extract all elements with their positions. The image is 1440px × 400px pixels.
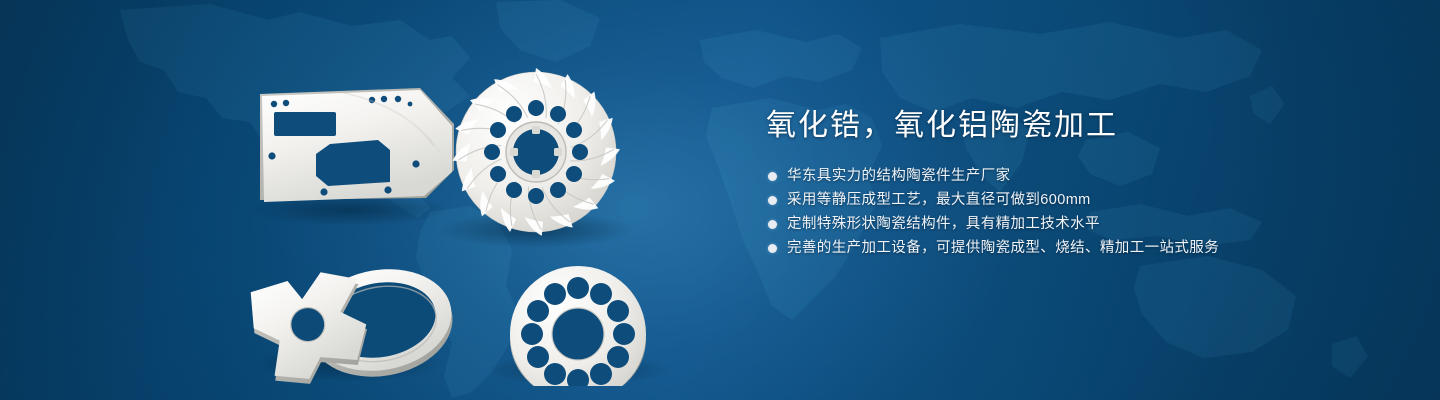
list-item: 完善的生产加工设备，可提供陶瓷成型、烧结、精加工一站式服务 bbox=[768, 238, 1386, 259]
page-title: 氧化锆，氧化铝陶瓷加工 bbox=[766, 104, 1386, 148]
list-item-label: 华东具实力的结构陶瓷件生产厂家 bbox=[787, 166, 1011, 187]
bullet-dot-icon bbox=[768, 172, 777, 181]
list-item: 定制特殊形状陶瓷结构件，具有精加工技术水平 bbox=[768, 214, 1386, 235]
list-item: 华东具实力的结构陶瓷件生产厂家 bbox=[768, 166, 1386, 187]
bullet-dot-icon bbox=[768, 244, 777, 253]
list-item-label: 采用等静压成型工艺，最大直径可做到600mm bbox=[787, 190, 1091, 211]
list-item-label: 定制特殊形状陶瓷结构件，具有精加工技术水平 bbox=[787, 214, 1100, 235]
ceramic-impeller-disc bbox=[451, 68, 621, 237]
banner-copy: 氧化锆，氧化铝陶瓷加工 华东具实力的结构陶瓷件生产厂家 采用等静压成型工艺，最大… bbox=[766, 104, 1386, 262]
ceramic-products-photo bbox=[220, 34, 720, 386]
ceramic-machined-plate bbox=[260, 88, 454, 202]
bullet-dot-icon bbox=[768, 196, 777, 205]
ceramic-processing-banner: 氧化锆，氧化铝陶瓷加工 华东具实力的结构陶瓷件生产厂家 采用等静压成型工艺，最大… bbox=[0, 0, 1440, 400]
list-item: 采用等静压成型工艺，最大直径可做到600mm bbox=[768, 190, 1386, 211]
feature-list: 华东具实力的结构陶瓷件生产厂家 采用等静压成型工艺，最大直径可做到600mm 定… bbox=[768, 166, 1386, 259]
list-item-label: 完善的生产加工设备，可提供陶瓷成型、烧结、精加工一站式服务 bbox=[787, 238, 1219, 259]
bullet-dot-icon bbox=[768, 220, 777, 229]
ceramic-perforated-disc bbox=[510, 266, 646, 386]
